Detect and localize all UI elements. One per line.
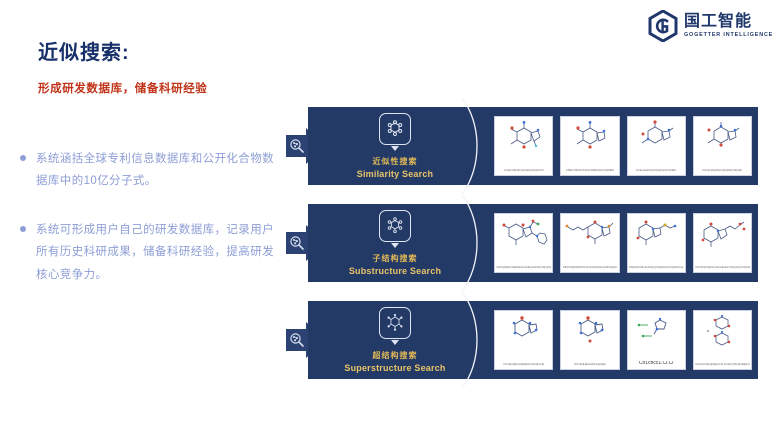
- row-divider-swoosh: [460, 195, 488, 291]
- smiles-caption: O=c1n(C)c2ncn(C)c2c(=O)n1C: [702, 169, 742, 172]
- molecule-card[interactable]: CP(=O)(O)OCCCn1c(=O)c2c(ncn2CC)n(C)c1=O: [560, 213, 619, 273]
- search-modes-diagram: 近似性搜索 Similarity Search Cn1c(=O)c2c(: [286, 107, 758, 379]
- label-cell-similarity: 近似性搜索 Similarity Search: [330, 107, 460, 185]
- bullet-dot-icon: [20, 226, 26, 232]
- bullet-text: 系统涵括全球专利信息数据库和公开化合物数据库中的10亿分子式。: [36, 148, 282, 193]
- molecule-card[interactable]: CN1C=NC2=C1C(=O)N(C)C(=O)N2C: [560, 116, 619, 176]
- magnifier-molecule-icon: [289, 332, 305, 348]
- magnifier-molecule-icon: [289, 138, 305, 154]
- row-divider-swoosh: [460, 98, 488, 194]
- molecule-card[interactable]: CN(C)CCSc1nc2c(c(=O)n(C)c(=O)n2C)n1C: [627, 213, 686, 273]
- label-cell-superstructure: 超结构搜索 Superstructure Search: [330, 301, 460, 379]
- diagram-row-substructure[interactable]: 子结构搜索 Substructure Search: [308, 204, 758, 282]
- page-title: 近似搜索:: [38, 36, 130, 65]
- row-label-cn: 近似性搜索: [373, 156, 418, 167]
- result-cards-superstructure: O=c1[nH]cnc2[nH]cnc12.[Zn+2] O=c1[nH]cnc…: [494, 310, 752, 370]
- row-label-en: Substructure Search: [349, 266, 441, 276]
- result-cards-substructure: OCC(Cl)Cn1c(Nc2ccccc2)nc2c1c(=O)n(C)c(=O…: [494, 213, 752, 273]
- smiles-caption: CP(=O)(O)OCCCn1c(=O)c2c(ncn2CC)n(C)c1=O: [563, 266, 617, 269]
- smiles-caption: O=c1[nH]cnc2[nH]cnc12.[Zn+2]: [503, 363, 544, 366]
- list-item: 系统涵括全球专利信息数据库和公开化合物数据库中的10亿分子式。: [20, 148, 282, 193]
- smiles-caption: Cn1cncc1.Cl.Cl: [639, 361, 673, 366]
- result-cards-similarity: Cn1c(=O)c2c(ncn2C)n(C)c1=O CN1C=NC2=C1C(…: [494, 116, 752, 176]
- list-item: 系统可形成用户自己的研发数据库，记录用户所有历史科研成果，储备科研经验，提高研发…: [20, 219, 282, 286]
- smiles-caption: Cn1c(=O)cc[nH]c1=O.Cn1c(=O)cc[nH]c1=O: [695, 363, 749, 366]
- molecule-card[interactable]: Cn1cnc2c1c(=O)n(C)c(=O)n2C: [627, 116, 686, 176]
- label-cell-substructure: 子结构搜索 Substructure Search: [330, 204, 460, 282]
- bullet-text: 系统可形成用户自己的研发数据库，记录用户所有历史科研成果，储备科研经验，提高研发…: [36, 219, 282, 286]
- molecule-card[interactable]: OCC(Cl)Cn1c(Nc2ccccc2)nc2c1c(=O)n(C)c(=O…: [494, 213, 553, 273]
- smiles-caption: OCC(Cl)Cn1c(Nc2ccccc2)nc2c1c(=O)n(C)c(=O…: [496, 266, 550, 269]
- smiles-caption: CN1C=NC2=C1C(=O)N(C)C(=O)N2C: [566, 169, 615, 172]
- magnifier-molecule-icon: [289, 235, 305, 251]
- bullet-dot-icon: [20, 155, 26, 161]
- logo-chinese-name: 国工智能: [684, 14, 752, 30]
- gogetter-hexagon-logo-icon: [648, 10, 678, 42]
- smiles-caption: CN(C)CCSc1nc2c(c(=O)n(C)c(=O)n2C)n1C: [629, 266, 683, 269]
- bullet-list: 系统涵括全球专利信息数据库和公开化合物数据库中的10亿分子式。 系统可形成用户自…: [20, 148, 282, 312]
- row-divider-swoosh: [460, 292, 488, 388]
- molecule-card[interactable]: Cn1c(=O)cc[nH]c1=O.Cn1c(=O)cc[nH]c1=O: [693, 310, 752, 370]
- molecule-card[interactable]: CCOC(=O)CCn1cnc2c1c(=O)n(C)c(=O)n2C: [693, 213, 752, 273]
- molecule-card[interactable]: Cn1c(=O)c2c(ncn2C)n(C)c1=O: [494, 116, 553, 176]
- logo-english-name: GOGETTER INTELLIGENCE: [684, 33, 773, 38]
- molecule-superstructure-icon: [379, 307, 411, 339]
- smiles-caption: CCOC(=O)CCn1cnc2c1c(=O)n(C)c(=O)n2C: [695, 266, 749, 269]
- molecule-card[interactable]: O=c1[nH]cnc2c1nc[nH]2: [560, 310, 619, 370]
- page-subtitle: 形成研发数据库，储备科研经验: [38, 80, 207, 96]
- molecule-similarity-icon: [379, 113, 411, 145]
- smiles-caption: Cn1c(=O)c2c(ncn2C)n(C)c1=O: [504, 169, 544, 172]
- smiles-caption: Cn1cnc2c1c(=O)n(C)c(=O)n2C: [636, 169, 676, 172]
- row-label-en: Similarity Search: [357, 169, 433, 179]
- diagram-row-superstructure[interactable]: 超结构搜索 Superstructure Search O=c1[nH]cnc2…: [308, 301, 758, 379]
- row-label-cn: 子结构搜索: [373, 253, 418, 264]
- row-label-en: Superstructure Search: [344, 363, 445, 373]
- molecule-card[interactable]: O=c1[nH]cnc2[nH]cnc12.[Zn+2]: [494, 310, 553, 370]
- molecule-card[interactable]: Cn1cncc1.Cl.Cl: [627, 310, 686, 370]
- smiles-caption: O=c1[nH]cnc2c1nc[nH]2: [574, 363, 605, 366]
- row-label-cn: 超结构搜索: [373, 350, 418, 361]
- slide-canvas: 国工智能 GOGETTER INTELLIGENCE 近似搜索: 形成研发数据库…: [0, 0, 780, 438]
- diagram-row-similarity[interactable]: 近似性搜索 Similarity Search Cn1c(=O)c2c(: [308, 107, 758, 185]
- brand-logo: 国工智能 GOGETTER INTELLIGENCE: [648, 10, 773, 42]
- molecule-card[interactable]: O=c1n(C)c2ncn(C)c2c(=O)n1C: [693, 116, 752, 176]
- molecule-substructure-icon: [379, 210, 411, 242]
